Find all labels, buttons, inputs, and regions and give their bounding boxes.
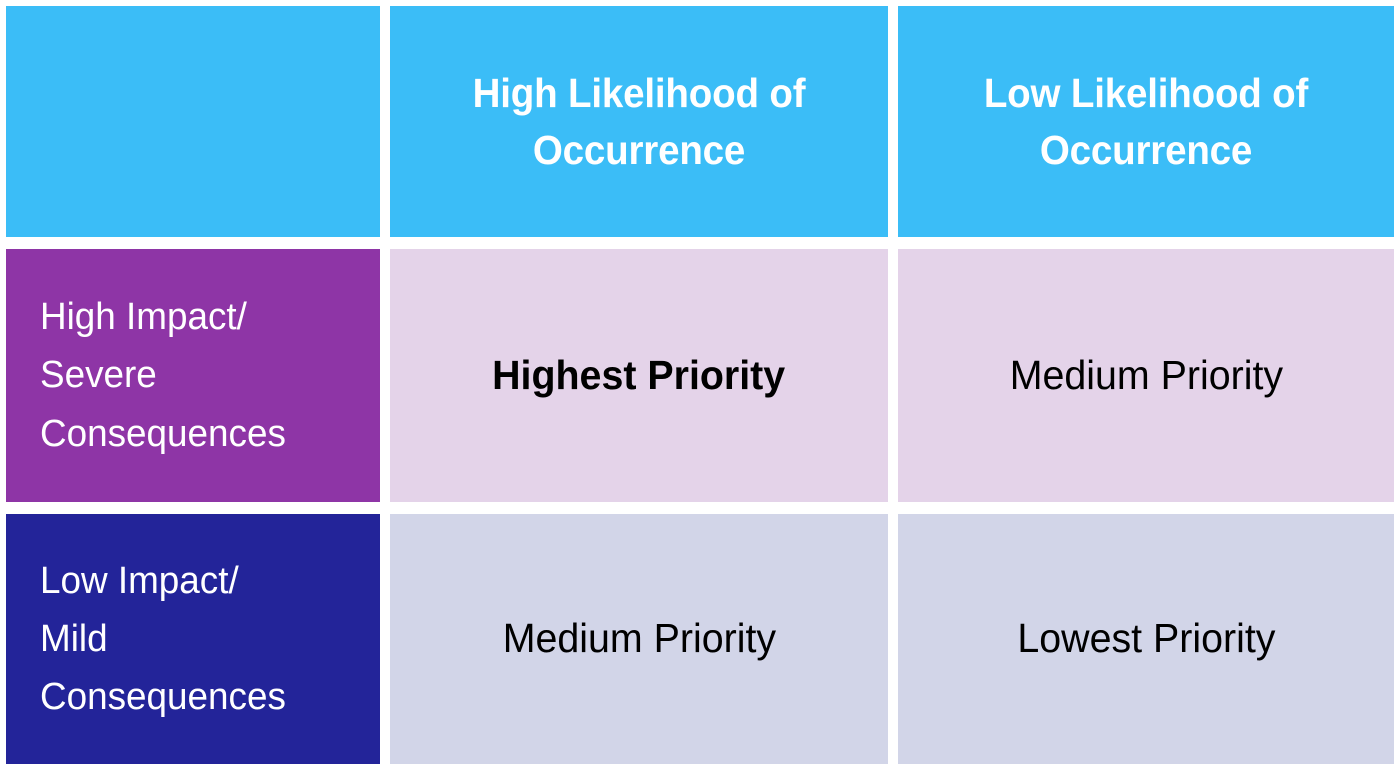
matrix-cell-high-impact-low-likelihood-label: Medium Priority xyxy=(1009,350,1282,401)
matrix-cell-high-impact-high-likelihood-label: Highest Priority xyxy=(492,350,785,401)
risk-priority-matrix: High Likelihood of Occurrence Low Likeli… xyxy=(0,0,1400,770)
column-header-high-likelihood: High Likelihood of Occurrence xyxy=(390,6,888,237)
row-header-high-impact: High Impact/ Severe Consequences xyxy=(6,249,380,502)
matrix-cell-high-impact-low-likelihood: Medium Priority xyxy=(898,249,1394,502)
matrix-cell-low-impact-high-likelihood: Medium Priority xyxy=(390,514,888,764)
matrix-cell-low-impact-low-likelihood: Lowest Priority xyxy=(898,514,1394,764)
column-header-low-likelihood-label: Low Likelihood of Occurrence xyxy=(935,65,1356,178)
matrix-cell-low-impact-high-likelihood-label: Medium Priority xyxy=(502,613,775,664)
row-header-low-impact-label: Low Impact/ Mild Consequences xyxy=(40,552,286,726)
column-header-low-likelihood: Low Likelihood of Occurrence xyxy=(898,6,1394,237)
matrix-cell-high-impact-high-likelihood: Highest Priority xyxy=(390,249,888,502)
matrix-cell-low-impact-low-likelihood-label: Lowest Priority xyxy=(1017,613,1275,664)
column-header-high-likelihood-label: High Likelihood of Occurrence xyxy=(428,65,851,178)
row-header-high-impact-label: High Impact/ Severe Consequences xyxy=(40,288,286,462)
matrix-corner-cell xyxy=(6,6,380,237)
row-header-low-impact: Low Impact/ Mild Consequences xyxy=(6,514,380,764)
